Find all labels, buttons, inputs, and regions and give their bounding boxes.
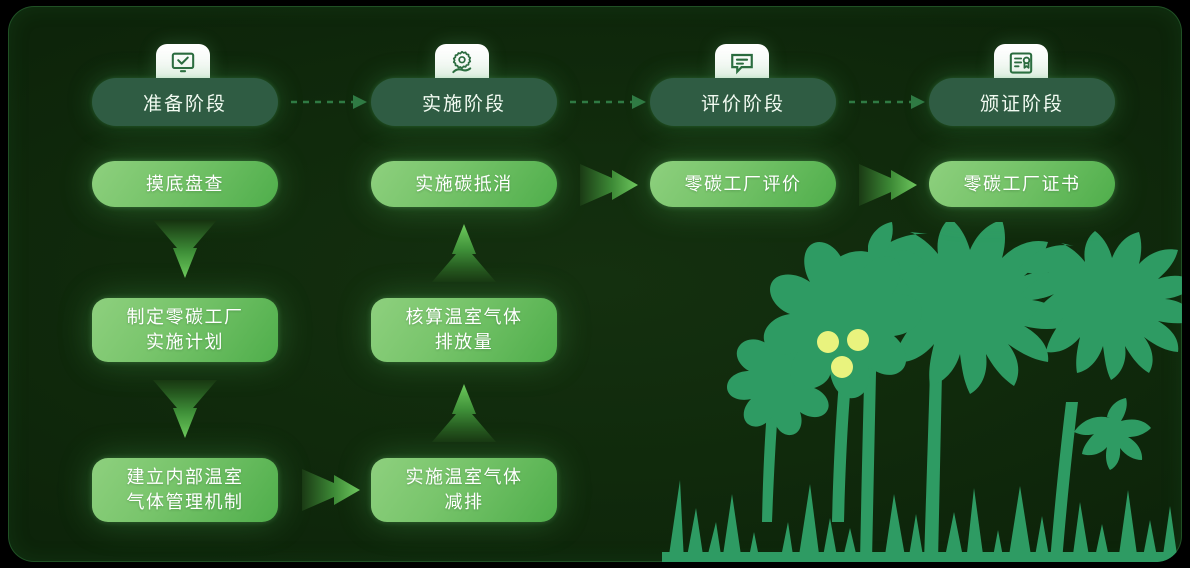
step-pill-实施碳抵消[interactable]: 实施碳抵消 <box>371 161 557 207</box>
arrow-down-col1-2 <box>151 378 219 444</box>
step-label: 零碳工厂证书 <box>964 172 1081 196</box>
step-box-核算温室气体排放量[interactable]: 核算温室气体 排放量 <box>371 298 557 362</box>
step-label: 零碳工厂评价 <box>685 172 802 196</box>
step-label: 核算温室气体 排放量 <box>406 305 523 355</box>
step-line-1: 建立内部温室 <box>127 467 244 487</box>
arrow-down-col1-1 <box>151 218 219 284</box>
phase-label: 颁证阶段 <box>980 89 1064 116</box>
diagram-board: 准备阶段 实施阶段 评价阶段 颁证阶段 摸底盘查 实施碳抵消 零碳工厂评价 零碳… <box>8 6 1182 562</box>
phase-pill-2[interactable]: 实施阶段 <box>371 78 557 126</box>
step-label: 实施碳抵消 <box>415 172 513 196</box>
flower-dots <box>817 329 869 378</box>
plants-illustration <box>662 222 1182 562</box>
phase-label: 评价阶段 <box>701 89 785 116</box>
dashed-connector-3-to-4 <box>849 91 929 113</box>
step-line-2: 实施计划 <box>146 332 224 352</box>
arrow-right-top-3-to-4 <box>857 160 921 210</box>
arrow-up-col2-2 <box>430 378 498 444</box>
arrow-right-top-2-to-3 <box>578 160 642 210</box>
phase-pill-3[interactable]: 评价阶段 <box>650 78 836 126</box>
phase-pill-1[interactable]: 准备阶段 <box>92 78 278 126</box>
step-pill-零碳工厂评价[interactable]: 零碳工厂评价 <box>650 161 836 207</box>
gear-hand-icon <box>449 50 475 76</box>
phase-pill-4[interactable]: 颁证阶段 <box>929 78 1115 126</box>
step-label: 摸底盘查 <box>146 172 224 196</box>
certificate-icon <box>1008 50 1034 76</box>
step-pill-零碳工厂证书[interactable]: 零碳工厂证书 <box>929 161 1115 207</box>
step-line-1: 制定零碳工厂 <box>127 307 244 327</box>
monitor-check-icon <box>170 50 196 76</box>
step-label: 实施温室气体 减排 <box>406 465 523 515</box>
step-box-建立内部温室气体管理机制[interactable]: 建立内部温室 气体管理机制 <box>92 458 278 522</box>
step-pill-摸底盘查[interactable]: 摸底盘查 <box>92 161 278 207</box>
step-label: 制定零碳工厂 实施计划 <box>127 305 244 355</box>
step-box-实施温室气体减排[interactable]: 实施温室气体 减排 <box>371 458 557 522</box>
phase-label: 实施阶段 <box>422 89 506 116</box>
comment-bubble-icon <box>729 50 755 76</box>
arrow-up-col2-1 <box>430 218 498 284</box>
step-line-2: 减排 <box>445 492 484 512</box>
dashed-connector-2-to-3 <box>570 91 650 113</box>
phase-label: 准备阶段 <box>143 89 227 116</box>
dashed-connector-1-to-2 <box>291 91 371 113</box>
step-line-2: 气体管理机制 <box>127 492 244 512</box>
arrow-right-bottom-1-to-2 <box>300 465 364 515</box>
step-box-制定零碳工厂实施计划[interactable]: 制定零碳工厂 实施计划 <box>92 298 278 362</box>
step-line-1: 核算温室气体 <box>406 307 523 327</box>
step-line-1: 实施温室气体 <box>406 467 523 487</box>
step-label: 建立内部温室 气体管理机制 <box>127 465 244 515</box>
screenshot-root: 准备阶段 实施阶段 评价阶段 颁证阶段 摸底盘查 实施碳抵消 零碳工厂评价 零碳… <box>0 0 1190 568</box>
step-line-2: 排放量 <box>435 332 494 352</box>
